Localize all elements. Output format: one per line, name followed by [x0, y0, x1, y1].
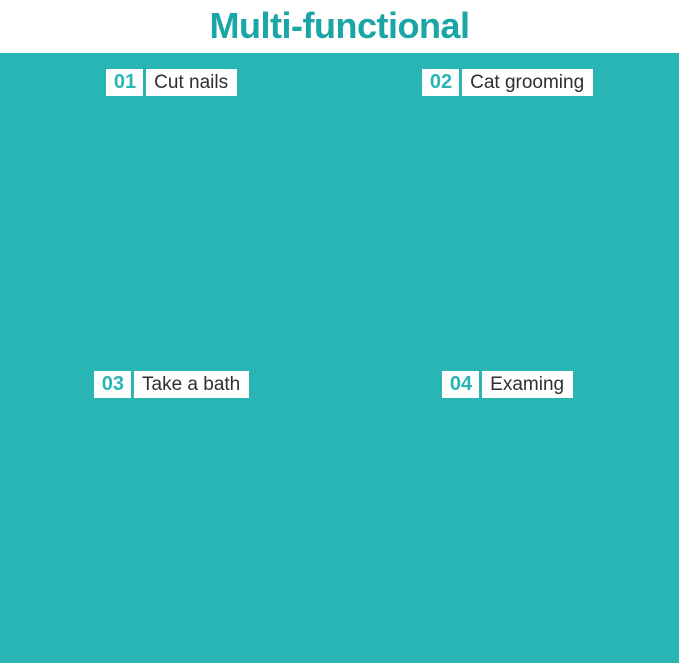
panel-number-3: 03 — [94, 371, 131, 398]
panel-number-1: 01 — [106, 69, 143, 96]
panel-label-row-2: 02 Cat grooming — [343, 69, 672, 96]
panel-label-row-4: 04 Examing — [343, 371, 672, 398]
panel-number-2: 02 — [422, 69, 459, 96]
panel-caption-2: Cat grooming — [462, 69, 593, 96]
panel-cut-nails: 01 Cut nails — [7, 60, 336, 355]
panel-examing: 04 Examing — [343, 362, 672, 657]
poster: Multi-functional — [0, 0, 679, 665]
panel-label-row-1: 01 Cut nails — [7, 69, 336, 96]
panel-caption-4: Examing — [482, 371, 573, 398]
panel-label-row-3: 03 Take a bath — [7, 371, 336, 398]
panel-caption-3: Take a bath — [134, 371, 249, 398]
panel-number-4: 04 — [442, 371, 479, 398]
panel-grid: 01 Cut nails — [0, 53, 679, 663]
panel-take-a-bath: 03 Take a bath — [7, 362, 336, 657]
page-title: Multi-functional — [0, 0, 679, 53]
panel-cat-grooming: 02 Cat grooming — [343, 60, 672, 355]
panel-caption-1: Cut nails — [146, 69, 237, 96]
